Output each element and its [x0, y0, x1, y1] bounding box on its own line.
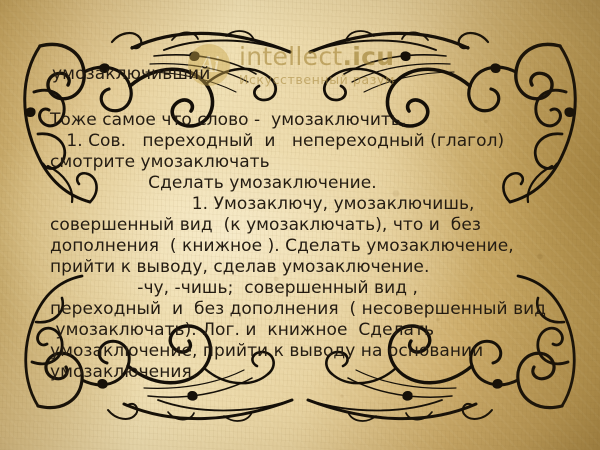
- definition-line: 1. Сов. переходный и непереходный (глаго…: [50, 131, 580, 152]
- watermark-brand-tld: .icu: [343, 42, 395, 71]
- watermark-tagline: Искусственный разум: [239, 74, 395, 87]
- definition-line: умозаключение, прийти к выводу на основа…: [50, 341, 580, 362]
- watermark-text: intellect.icu Искусственный разум: [239, 44, 395, 87]
- watermark-brand: intellect.icu: [239, 44, 395, 69]
- definition-line: прийти к выводу, сделав умозаключение.: [50, 257, 580, 278]
- definition-line: совершенный вид (к умозаключать), что и …: [50, 215, 580, 236]
- definition-line: смотрите умозаключать: [50, 152, 580, 173]
- definition-line: переходный и без дополнения ( несовершен…: [50, 299, 580, 320]
- site-watermark: Ai intellect.icu Искусственный разум: [188, 44, 395, 87]
- definition-line: -чу, -чишь; совершенный вид ,: [50, 278, 580, 299]
- page-title: умозаключивший: [52, 64, 210, 84]
- definition-line: Тоже самое что слово - умозаключить,: [50, 110, 580, 131]
- definition-body: Тоже самое что слово - умозаключить, 1. …: [50, 110, 580, 383]
- parchment-page: Ai intellect.icu Искусственный разум умо…: [0, 0, 600, 450]
- watermark-brand-name: intellect: [239, 42, 343, 71]
- definition-line: Сделать умозаключение.: [50, 173, 580, 194]
- definition-line: умозаключения.: [50, 362, 580, 383]
- definition-line: 1. Умозаключу, умозаключишь,: [50, 194, 580, 215]
- definition-line: дополнения ( книжное ). Сделать умозаклю…: [50, 236, 580, 257]
- definition-line: умозаключать). Лог. и книжное Сделать: [50, 320, 580, 341]
